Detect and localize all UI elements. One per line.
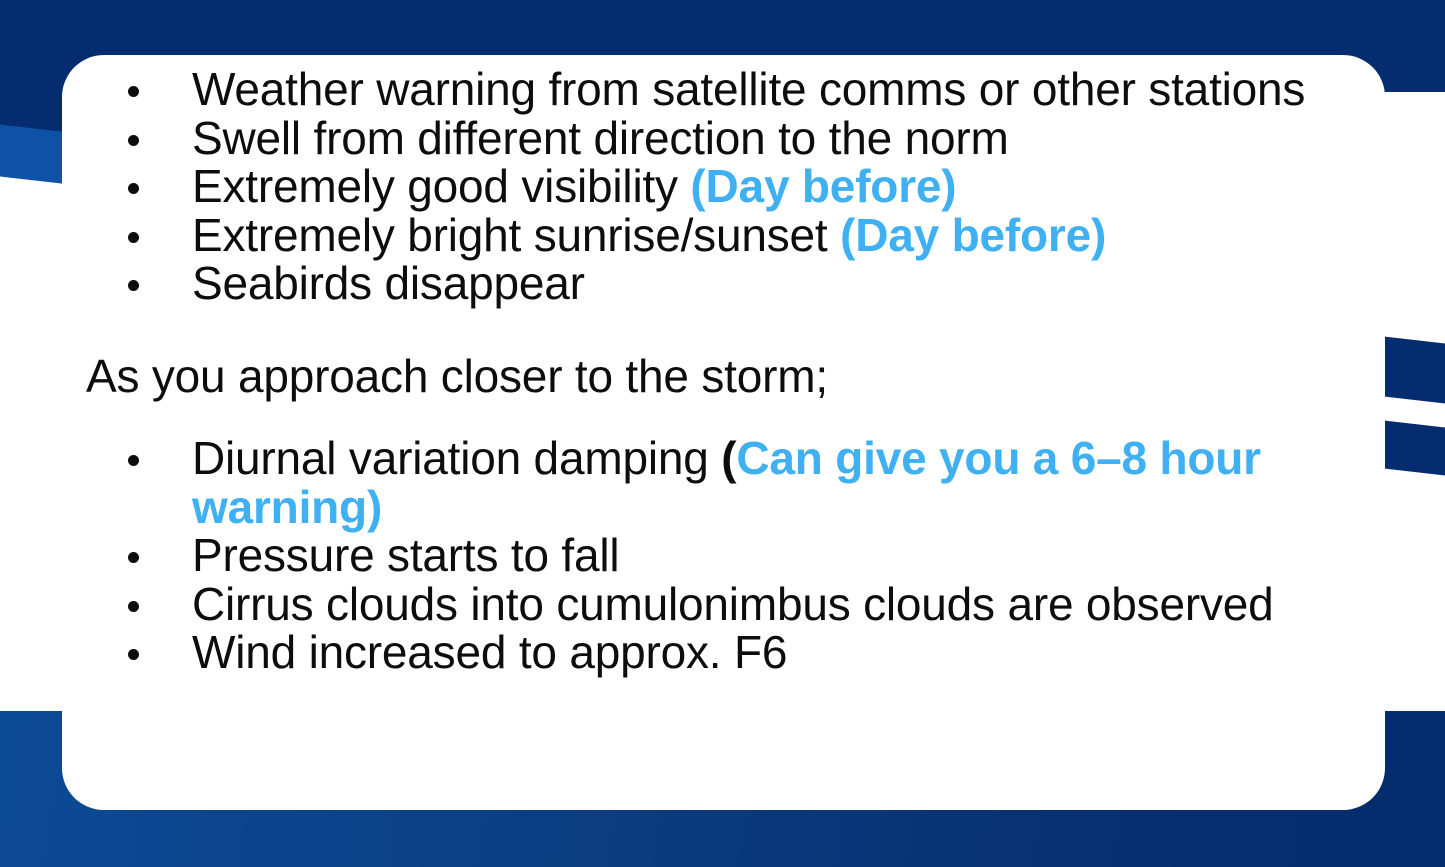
bullet-dot-icon bbox=[128, 455, 139, 466]
list-item: Wind increased to approx. F6 bbox=[86, 628, 1375, 677]
list-item: Seabirds disappear bbox=[86, 259, 1375, 308]
list-item-highlight: (Day before) bbox=[840, 209, 1106, 261]
intro-paragraph: As you approach closer to the storm; bbox=[86, 352, 1375, 401]
spacer bbox=[86, 308, 1375, 352]
list-item-text: Seabirds disappear bbox=[192, 257, 585, 309]
bullet-dot-icon bbox=[128, 280, 139, 291]
bullet-dot-icon bbox=[128, 232, 139, 243]
list-item-text: Diurnal variation damping bbox=[192, 432, 721, 484]
list-item-text: Cirrus clouds into cumulonimbus clouds a… bbox=[192, 578, 1274, 630]
bullet-dot-icon bbox=[128, 601, 139, 612]
list-item: Pressure starts to fall bbox=[86, 531, 1375, 580]
list-item-highlight: (Day before) bbox=[690, 160, 956, 212]
list-item-text: Swell from different direction to the no… bbox=[192, 112, 1009, 164]
list-item-text: Extremely bright sunrise/sunset bbox=[192, 209, 840, 261]
bullet-dot-icon bbox=[128, 552, 139, 563]
list-item-text: Weather warning from satellite comms or … bbox=[192, 63, 1305, 115]
card-body: Weather warning from satellite comms or … bbox=[86, 65, 1375, 677]
warning-signs-list: Weather warning from satellite comms or … bbox=[86, 65, 1375, 308]
list-item: Cirrus clouds into cumulonimbus clouds a… bbox=[86, 580, 1375, 629]
list-item: Extremely bright sunrise/sunset (Day bef… bbox=[86, 211, 1375, 260]
content-card: Weather warning from satellite comms or … bbox=[62, 55, 1385, 810]
list-item: Swell from different direction to the no… bbox=[86, 114, 1375, 163]
bullet-dot-icon bbox=[128, 649, 139, 660]
list-item-open-paren: ( bbox=[721, 432, 736, 484]
spacer bbox=[86, 400, 1375, 434]
list-item: Weather warning from satellite comms or … bbox=[86, 65, 1375, 114]
list-item: Diurnal variation damping (Can give you … bbox=[86, 434, 1375, 531]
list-item-text: Wind increased to approx. F6 bbox=[192, 626, 787, 678]
bullet-dot-icon bbox=[128, 135, 139, 146]
slide-canvas: Weather warning from satellite comms or … bbox=[0, 0, 1445, 867]
list-item-text: Pressure starts to fall bbox=[192, 529, 619, 581]
bullet-dot-icon bbox=[128, 183, 139, 194]
approach-signs-list: Diurnal variation damping (Can give you … bbox=[86, 434, 1375, 677]
list-item: Extremely good visibility (Day before) bbox=[86, 162, 1375, 211]
list-item-text: Extremely good visibility bbox=[192, 160, 690, 212]
bullet-dot-icon bbox=[128, 86, 139, 97]
